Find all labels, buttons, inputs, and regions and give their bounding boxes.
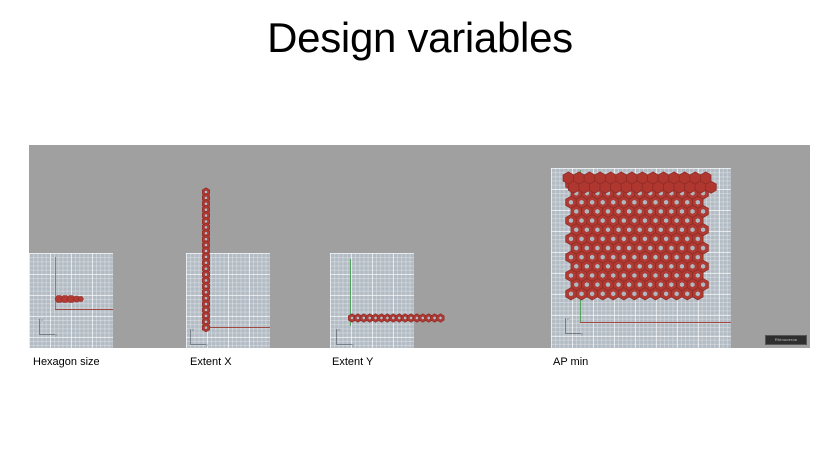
axis-tripod-icon: z y xyxy=(190,329,210,345)
axis-tripod-icon: z y xyxy=(336,329,356,345)
axis-y-green xyxy=(350,259,351,326)
tripod-label-z: z xyxy=(192,328,194,332)
viewport-ap-min[interactable]: z y xyxy=(551,168,731,348)
caption-extent-x: Extent X xyxy=(190,357,232,368)
caption-hexagon-size: Hexagon size xyxy=(33,357,100,368)
axis-x-red xyxy=(55,309,113,310)
tripod-label-z: z xyxy=(338,328,340,332)
viewport-extent-y[interactable]: z y xyxy=(330,253,414,348)
axis-x-red xyxy=(580,322,731,323)
cad-screenshot-panel: z y z y z y xyxy=(29,145,810,348)
tripod-label-y: y xyxy=(352,343,354,347)
tripod-label-y: y xyxy=(581,332,583,336)
caption-extent-y: Extent Y xyxy=(332,357,373,368)
viewport-hexagon-size[interactable]: z y xyxy=(29,253,113,348)
axis-tripod-icon: z y xyxy=(565,318,585,334)
axis-x-red xyxy=(204,327,270,328)
tripod-label-y: y xyxy=(55,333,57,337)
tripod-label-y: y xyxy=(206,343,208,347)
software-watermark: Rhinoceros xyxy=(765,335,807,345)
viewport-extent-x[interactable]: z y xyxy=(186,253,270,348)
tripod-label-z: z xyxy=(41,318,43,322)
page-title: Design variables xyxy=(0,14,840,62)
axis-tripod-icon: z y xyxy=(39,319,59,335)
tripod-label-z: z xyxy=(567,317,569,321)
axis-y-green xyxy=(580,170,581,322)
axis-y-green xyxy=(55,257,56,309)
caption-ap-min: AP min xyxy=(553,357,588,368)
